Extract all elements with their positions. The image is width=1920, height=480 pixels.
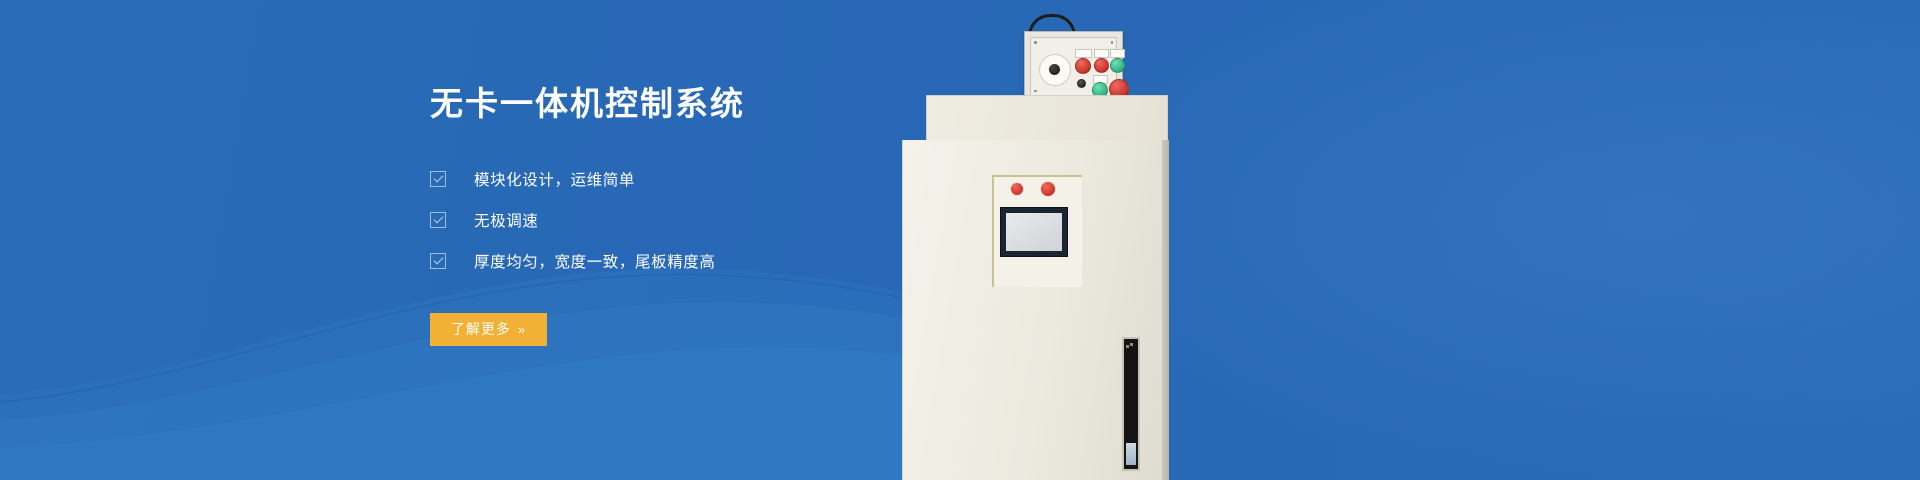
indicator-red-small [1010, 182, 1024, 196]
double-chevron-right-icon: » [518, 323, 526, 336]
indicator-red-large [1040, 181, 1056, 197]
product-photo [900, 0, 1220, 480]
button-nameplate [1094, 49, 1109, 58]
screw-icon [1111, 41, 1114, 44]
button-nameplate [1110, 49, 1125, 58]
screw-icon [1034, 41, 1037, 44]
list-item: 厚度均匀，宽度一致，尾板精度高 [430, 250, 950, 272]
side-vent-strip [1122, 337, 1140, 471]
page-title: 无卡一体机控制系统 [430, 84, 950, 124]
control-box [1024, 31, 1123, 102]
control-box-face [1030, 37, 1117, 96]
feature-label: 模块化设计，运维简单 [474, 168, 635, 190]
screw-icon [1034, 90, 1037, 93]
hero-banner: 无卡一体机控制系统 模块化设计，运维简单 无极调速 厚度均匀，宽度一致，尾板精度… [0, 0, 1920, 480]
check-square-icon [430, 212, 446, 228]
button-red-1 [1075, 58, 1091, 74]
rotary-selector-knob [1039, 54, 1071, 86]
cabinet-side-edge [1162, 140, 1169, 480]
button-green-1 [1110, 58, 1125, 73]
cabinet-top [926, 95, 1168, 144]
vent-dot [1130, 343, 1133, 346]
hero-content: 无卡一体机控制系统 模块化设计，运维简单 无极调速 厚度均匀，宽度一致，尾板精度… [430, 84, 950, 346]
hmi-screen-surface [1006, 213, 1062, 251]
feature-list: 模块化设计，运维简单 无极调速 厚度均匀，宽度一致，尾板精度高 [430, 168, 950, 272]
hmi-touchscreen [1000, 207, 1068, 257]
learn-more-label: 了解更多 [451, 319, 511, 339]
list-item: 模块化设计，运维简单 [430, 168, 950, 190]
check-square-icon [430, 253, 446, 269]
vent-dot [1126, 345, 1129, 348]
check-square-icon [430, 171, 446, 187]
button-red-2 [1094, 58, 1109, 73]
vent-sticker [1126, 443, 1136, 465]
button-black-small [1077, 79, 1086, 88]
feature-label: 厚度均匀，宽度一致，尾板精度高 [474, 250, 716, 272]
button-nameplate [1075, 49, 1092, 58]
list-item: 无极调速 [430, 209, 950, 231]
learn-more-button[interactable]: 了解更多 » [430, 313, 547, 346]
feature-label: 无极调速 [474, 209, 538, 231]
